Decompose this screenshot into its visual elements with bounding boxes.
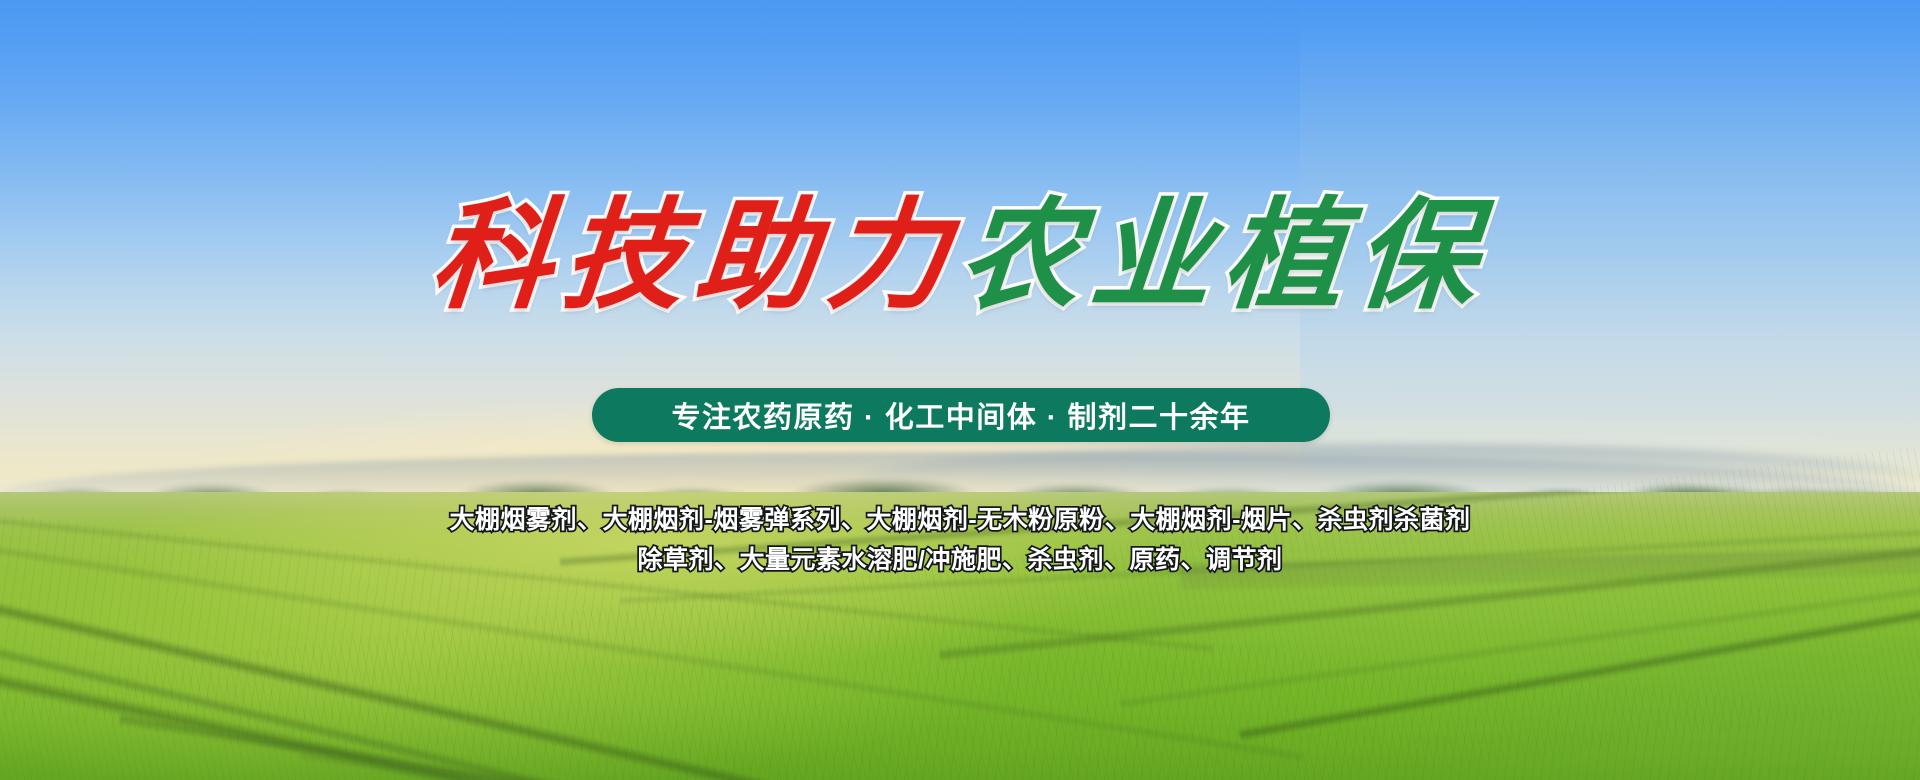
product-line-2: 除草剂、大量元素水溶肥/冲施肥、杀虫剂、原药、调节剂 (0, 540, 1920, 580)
hero-banner: 科技助力农业植保 专注农药原药 · 化工中间体 · 制剂二十余年 大棚烟雾剂、大… (0, 0, 1920, 780)
product-line-1: 大棚烟雾剂、大棚烟剂-烟雾弹系列、大棚烟剂-无木粉原粉、大棚烟剂-烟片、杀虫剂杀… (0, 500, 1920, 540)
headline-segment-red: 科技助力 (427, 196, 965, 316)
tagline-badge: 专注农药原药 · 化工中间体 · 制剂二十余年 (592, 388, 1330, 442)
page-title: 科技助力农业植保 (0, 196, 1920, 316)
product-list: 大棚烟雾剂、大棚烟剂-烟雾弹系列、大棚烟剂-无木粉原粉、大棚烟剂-烟片、杀虫剂杀… (0, 500, 1920, 580)
headline-segment-green: 农业植保 (955, 196, 1493, 316)
tagline-badge-text: 专注农药原药 · 化工中间体 · 制剂二十余年 (671, 394, 1250, 436)
